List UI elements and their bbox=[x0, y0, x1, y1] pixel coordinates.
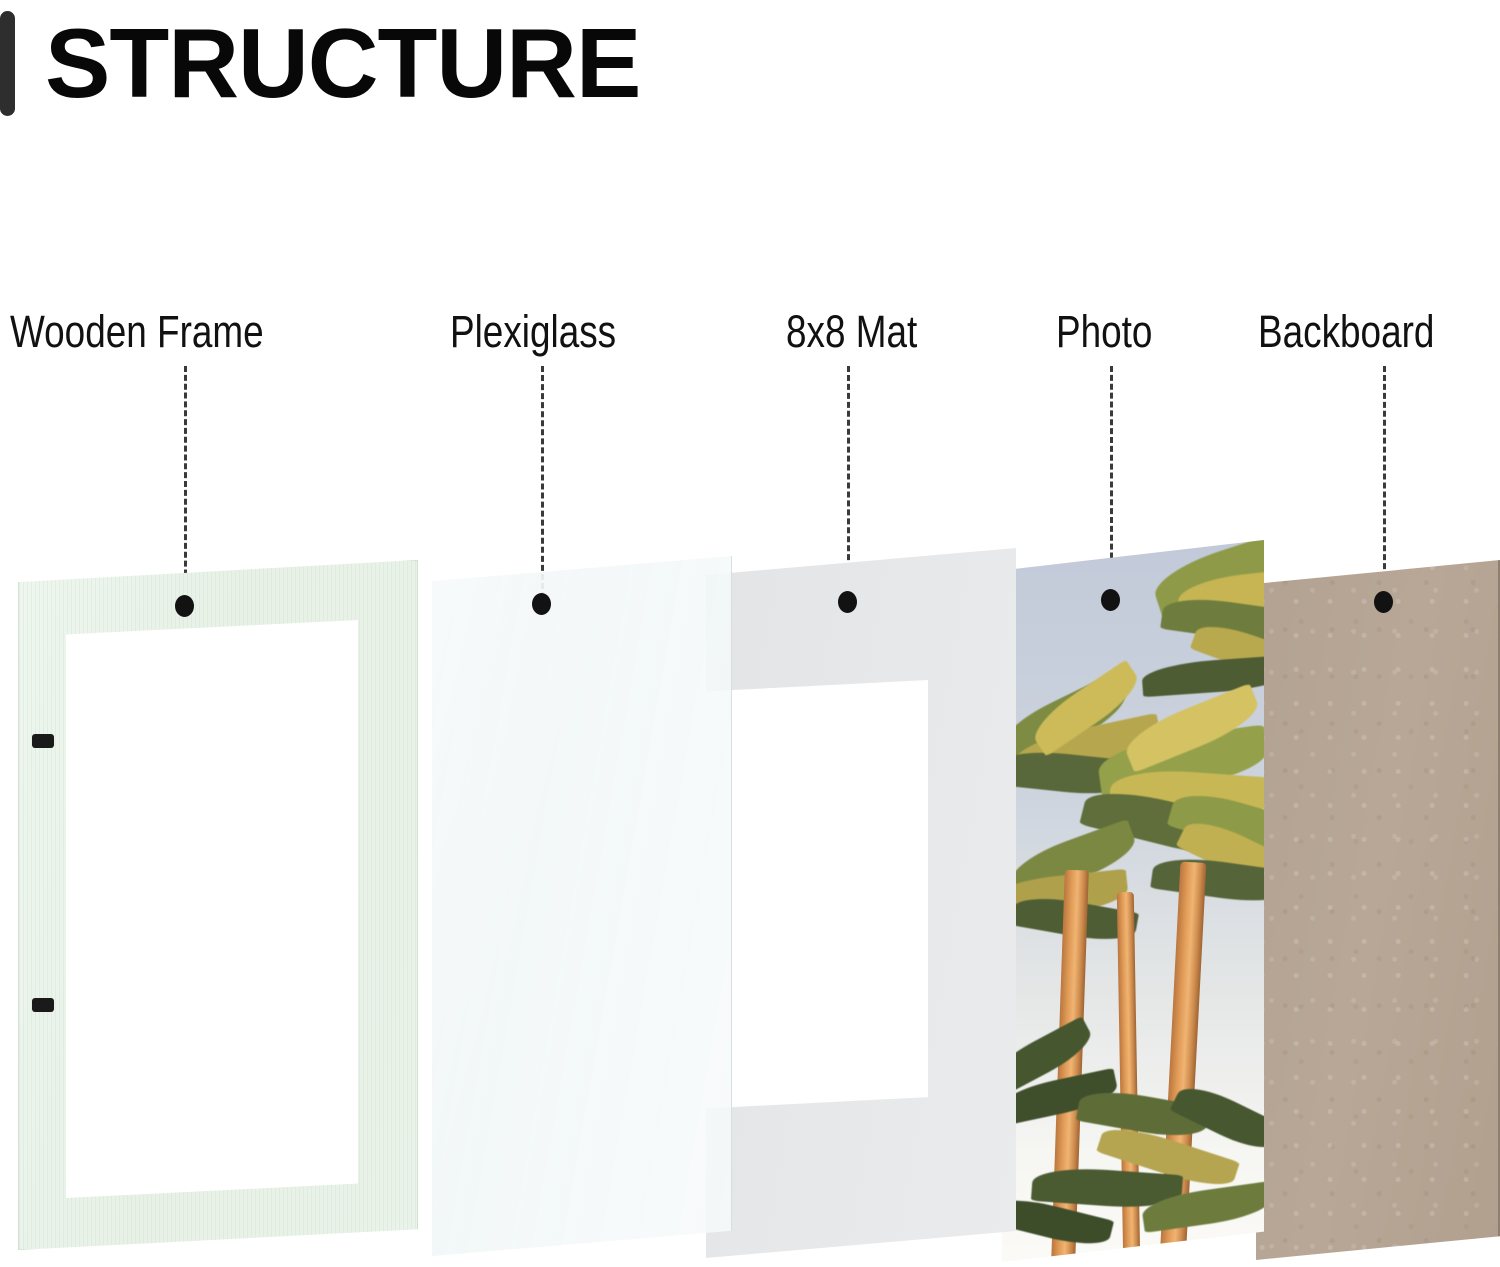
leader-dot-photo bbox=[1101, 589, 1120, 611]
layer-backboard bbox=[1256, 560, 1500, 1260]
layer-wooden-frame bbox=[18, 560, 418, 1250]
layer-plexiglass bbox=[432, 556, 732, 1256]
wooden-frame-opening bbox=[66, 620, 358, 1198]
leader-dot-wooden-frame bbox=[175, 595, 194, 617]
layer-mat bbox=[706, 548, 1016, 1258]
leader-dot-mat bbox=[838, 591, 857, 613]
layer-photo bbox=[1002, 540, 1264, 1262]
exploded-view-stage bbox=[0, 0, 1500, 1267]
leader-dot-plexiglass bbox=[532, 593, 551, 615]
frame-hanging-tab-upper bbox=[32, 734, 54, 748]
leader-dot-backboard bbox=[1374, 591, 1393, 613]
plexiglass-sheen bbox=[432, 556, 731, 1256]
frame-hanging-tab-lower bbox=[32, 998, 54, 1012]
